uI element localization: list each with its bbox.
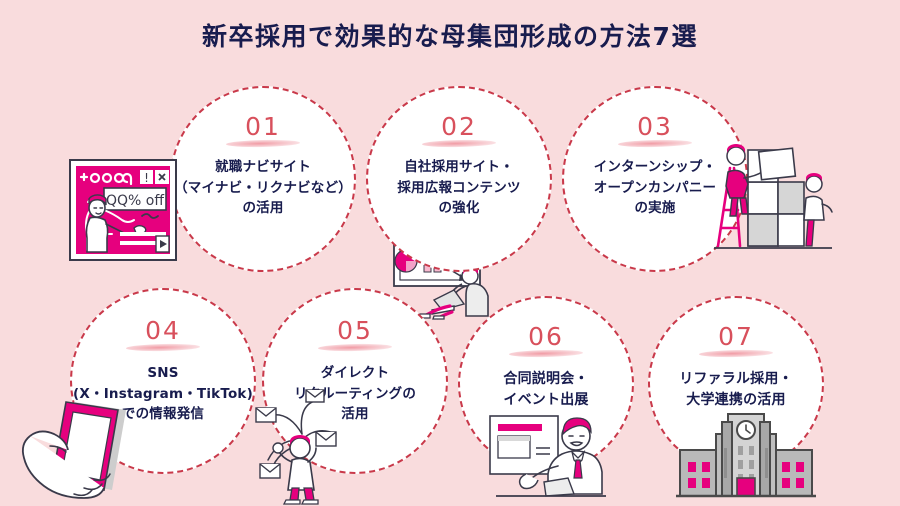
method-label-line: の強化 — [397, 198, 520, 219]
method-number-wrap-3: 03 — [637, 114, 673, 139]
method-label-line: オープンカンパニー — [594, 178, 717, 199]
method-label-3: インターンシップ・ オープンカンパニー の実施 — [594, 157, 717, 219]
hand-holding-smartphone-illustration — [18, 392, 148, 506]
method-label-line: ダイレクト — [294, 363, 416, 384]
browser-window-presenter-illustration: ! QQ% off — [68, 158, 178, 266]
university-building-illustration — [676, 408, 816, 506]
method-label-line: リファラル採用・ — [679, 369, 793, 390]
method-label-line: 採用広報コンテンツ — [397, 178, 520, 199]
method-number-6: 06 — [528, 324, 564, 349]
method-label-line: 合同説明会・ — [503, 369, 588, 390]
method-number-wrap-6: 06 — [528, 324, 564, 349]
method-label-line: SNS — [73, 363, 253, 384]
method-circle-1[interactable]: 01 就職ナビサイト （マイナビ・リクナビなど） の活用 — [170, 86, 356, 272]
page-title: 新卒採用で効果的な母集団形成の方法7選 — [0, 22, 900, 52]
method-label-line: インターンシップ・ — [594, 157, 717, 178]
ladder-blocks-teamwork-illustration — [706, 128, 846, 264]
method-number-wrap-7: 07 — [718, 324, 754, 349]
method-number-5: 05 — [337, 318, 373, 343]
method-number-wrap-5: 05 — [337, 318, 373, 343]
svg-text:QQ% off: QQ% off — [106, 193, 164, 209]
infographic-canvas: 新卒採用で効果的な母集団形成の方法7選 ! QQ% off — [0, 0, 900, 506]
method-number-1: 01 — [245, 114, 281, 139]
method-label-2: 自社採用サイト・ 採用広報コンテンツ の強化 — [397, 157, 520, 219]
method-number-7: 07 — [718, 324, 754, 349]
method-number-wrap-2: 02 — [441, 114, 477, 139]
method-label-line: （マイナビ・リクナビなど） — [174, 178, 352, 199]
method-number-wrap-4: 04 — [145, 318, 181, 343]
method-number-3: 03 — [637, 114, 673, 139]
method-label-line: の実施 — [594, 198, 717, 219]
method-label-line: 自社採用サイト・ — [397, 157, 520, 178]
person-sending-emails-illustration — [246, 388, 386, 506]
method-number-wrap-1: 01 — [245, 114, 281, 139]
method-circle-2[interactable]: 02 自社採用サイト・ 採用広報コンテンツ の強化 — [366, 86, 552, 272]
method-label-line: の活用 — [174, 198, 352, 219]
method-label-7: リファラル採用・ 大学連携の活用 — [679, 369, 793, 412]
method-number-4: 04 — [145, 318, 181, 343]
method-label-1: 就職ナビサイト （マイナビ・リクナビなど） の活用 — [174, 157, 352, 219]
svg-text:!: ! — [144, 171, 149, 185]
presenter-whiteboard-illustration — [486, 404, 614, 506]
method-label-line: 就職ナビサイト — [174, 157, 352, 178]
method-number-2: 02 — [441, 114, 477, 139]
